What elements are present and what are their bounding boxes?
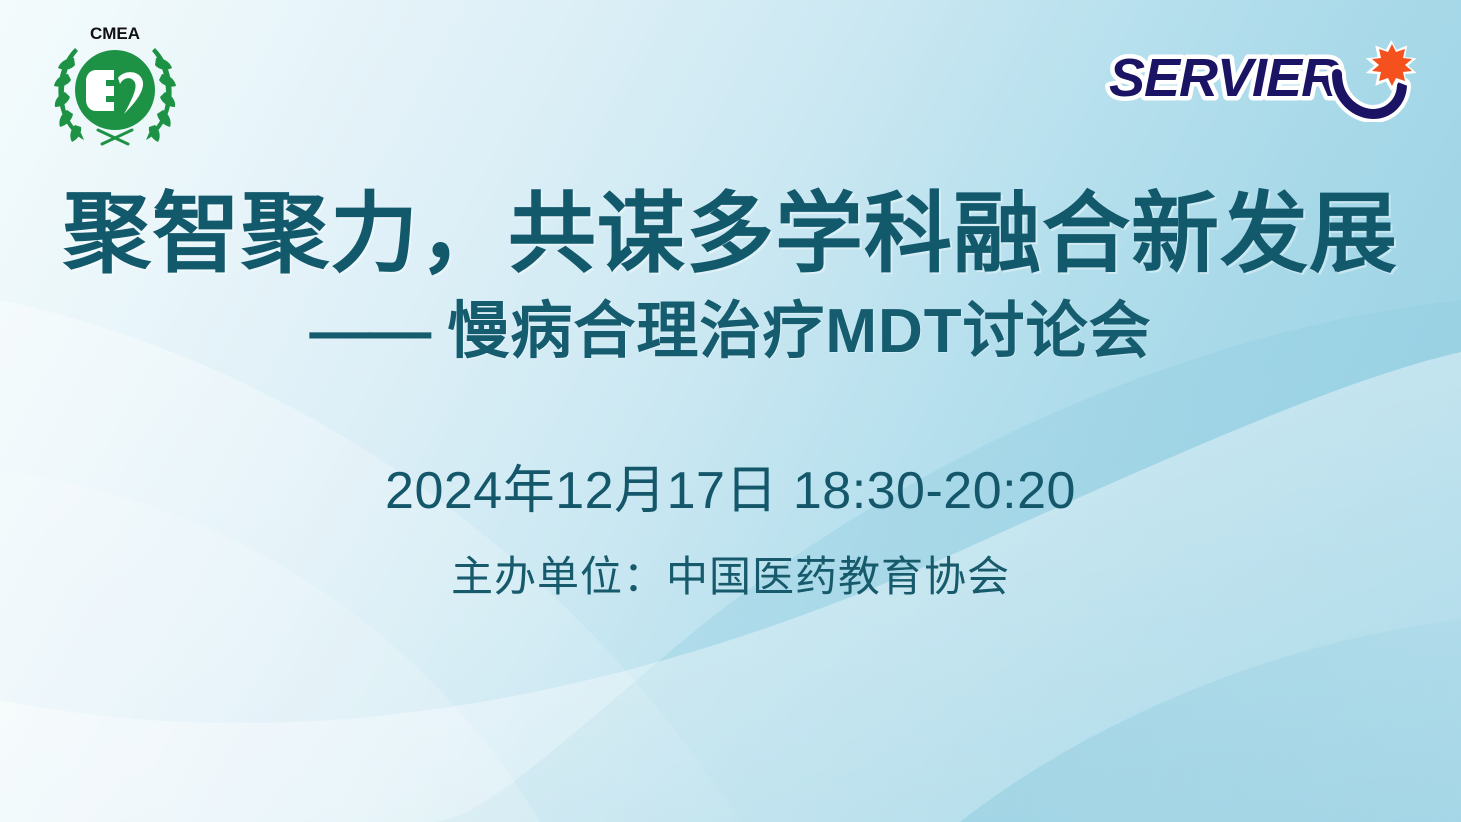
subtitle-text: 慢病合理治疗MDT讨论会: [447, 297, 1151, 366]
wreath-crossed-stems: [98, 130, 132, 144]
subtitle-rule: ——: [309, 297, 429, 366]
servier-logo-graphic: SERVIER SERVIER: [1105, 38, 1417, 122]
page-title: 聚智聚力，共谋多学科融合新发展: [0, 186, 1461, 281]
logo-cross-shape: [86, 70, 114, 111]
cmea-logo-graphic: CMEA: [44, 18, 186, 150]
servier-logo: SERVIER SERVIER: [1105, 38, 1417, 122]
wave-shape-corner: [960, 620, 1461, 822]
event-organizer: 主办单位：中国医药教育协会: [0, 543, 1461, 604]
title-block: 聚智聚力，共谋多学科融合新发展 ——慢病合理治疗MDT讨论会 2024年12月1…: [0, 186, 1461, 604]
servier-wordmark-text: SERVIER: [1109, 48, 1340, 108]
cmea-logo: CMEA: [44, 18, 186, 150]
page-subtitle: ——慢病合理治疗MDT讨论会: [0, 297, 1461, 366]
cmea-acronym-text: CMEA: [90, 24, 140, 43]
event-datetime: 2024年12月17日 18:30-20:20: [0, 448, 1461, 523]
event-title-slide: CMEA: [0, 0, 1461, 822]
